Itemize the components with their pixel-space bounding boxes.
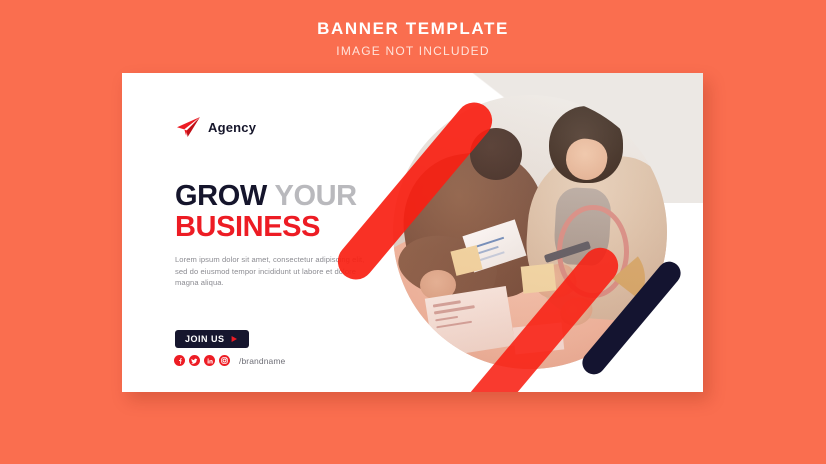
page-header: BANNER TEMPLATE IMAGE NOT INCLUDED [0, 19, 826, 59]
page-title: BANNER TEMPLATE [0, 19, 826, 39]
headline: GROW YOUR BUSINESS [175, 181, 357, 243]
twitter-icon[interactable] [189, 355, 200, 366]
headline-word-grow: GROW [175, 180, 267, 212]
brand-name: Agency [208, 120, 256, 135]
brand-handle: /brandname [239, 356, 285, 366]
paper-plane-icon [175, 116, 201, 138]
page-subtitle: IMAGE NOT INCLUDED [0, 43, 826, 59]
banner-artwork [371, 73, 703, 392]
brand-logo[interactable]: Agency [175, 116, 256, 138]
social-links: /brandname [174, 355, 285, 366]
banner-card: Agency GROW YOUR BUSINESS Lorem ipsum do… [122, 73, 703, 392]
body-line-3: magna aliqua. [175, 277, 375, 289]
headline-word-business: BUSINESS [175, 212, 357, 243]
headline-word-your: YOUR [275, 180, 357, 212]
instagram-icon[interactable] [219, 355, 230, 366]
join-us-button[interactable]: JOIN US [175, 330, 249, 348]
arrow-right-icon [231, 335, 240, 343]
linkedin-icon[interactable] [204, 355, 215, 366]
facebook-icon[interactable] [174, 355, 185, 366]
join-us-label: JOIN US [185, 334, 225, 344]
